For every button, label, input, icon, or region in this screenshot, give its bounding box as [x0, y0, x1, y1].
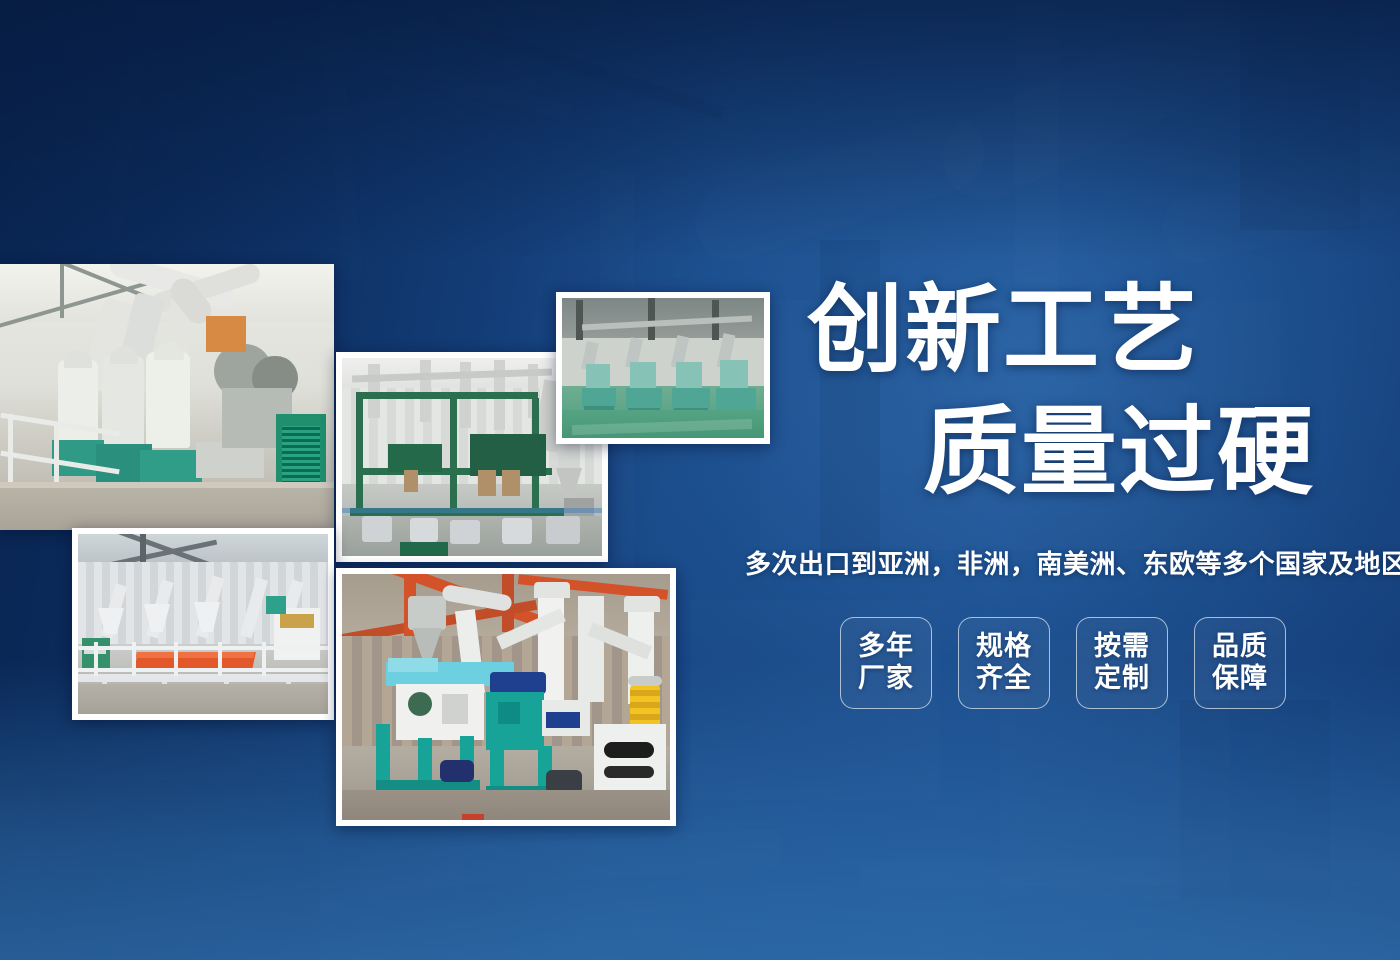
badge-quality-guarantee[interactable]: 品质 保障	[1194, 617, 1286, 709]
headline-line-2: 质量过硬	[735, 404, 1390, 502]
badge-line-bottom: 保障	[1212, 663, 1268, 695]
headline-line-1: 创新工艺	[735, 282, 1390, 380]
badge-line-top: 品质	[1212, 631, 1268, 663]
photo-teal-mill-plant	[336, 568, 676, 826]
badge-line-top: 按需	[1094, 631, 1150, 663]
feature-badge-row: 多年 厂家 规格 齐全 按需 定制 品质 保障	[735, 617, 1390, 709]
photo-grain-milling-line	[0, 264, 334, 530]
badge-line-top: 多年	[858, 631, 914, 663]
headline: 创新工艺 质量过硬	[735, 282, 1390, 502]
promo-banner: 创新工艺 质量过硬 多次出口到亚洲，非洲，南美洲、东欧等多个国家及地区 多年 厂…	[0, 0, 1400, 960]
badge-line-bottom: 齐全	[976, 663, 1032, 695]
badge-years-manufacturer[interactable]: 多年 厂家	[840, 617, 932, 709]
badge-full-specifications[interactable]: 规格 齐全	[958, 617, 1050, 709]
badge-line-bottom: 厂家	[858, 663, 914, 695]
copy-block: 创新工艺 质量过硬 多次出口到亚洲，非洲，南美洲、东欧等多个国家及地区 多年 厂…	[735, 282, 1390, 709]
photo-white-cleaning-line	[72, 528, 334, 720]
badge-line-top: 规格	[976, 631, 1032, 663]
badge-line-bottom: 定制	[1094, 663, 1150, 695]
badge-custom-made[interactable]: 按需 定制	[1076, 617, 1168, 709]
subtitle: 多次出口到亚洲，非洲，南美洲、东欧等多个国家及地区	[735, 544, 1390, 581]
